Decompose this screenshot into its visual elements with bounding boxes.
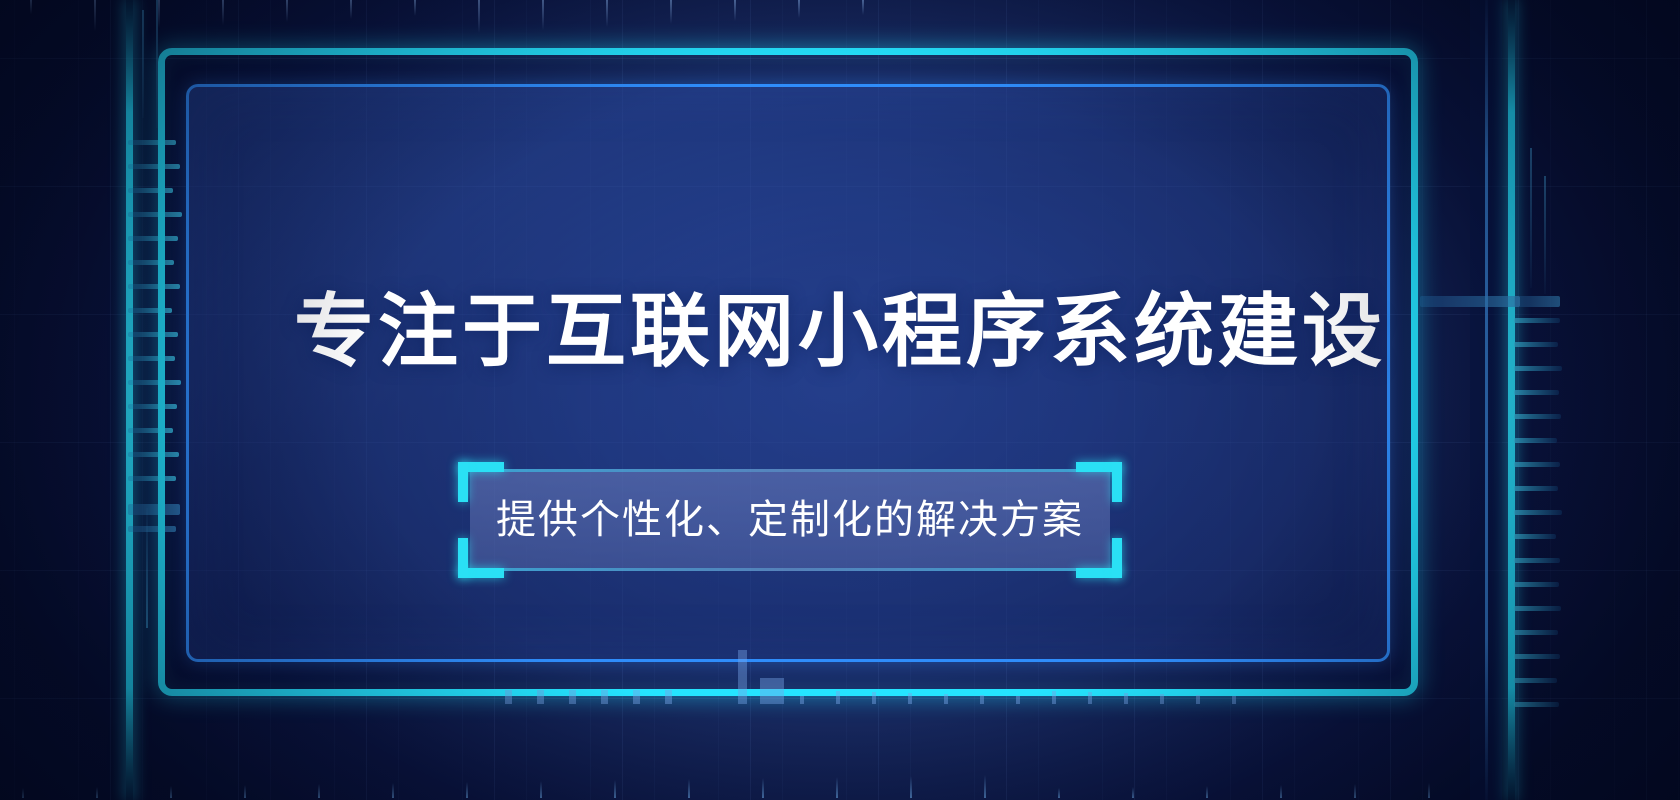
tick-mark — [540, 781, 542, 798]
dash-mark — [908, 693, 912, 704]
tick-mark — [94, 0, 96, 31]
bottom-bar-tall — [738, 650, 747, 704]
bottom-tick-marks — [0, 774, 1680, 798]
tick-mark — [910, 776, 912, 798]
right-whisker-b — [1544, 176, 1546, 294]
dash-mark — [537, 690, 544, 704]
tick-mark — [614, 780, 616, 798]
tick-mark — [96, 787, 98, 798]
tick-mark — [30, 0, 32, 14]
equalizer-bar — [1514, 462, 1560, 467]
equalizer-bar — [1514, 486, 1558, 491]
dash-mark — [1196, 695, 1200, 704]
tick-mark — [478, 0, 480, 33]
dash-mark — [944, 694, 948, 704]
equalizer-bar — [1514, 582, 1559, 587]
tick-mark — [1058, 788, 1060, 798]
dash-mark — [665, 690, 672, 704]
dash-mark — [1232, 696, 1236, 704]
banner-stage: 专注于互联网小程序系统建设 提供个性化、定制化的解决方案 — [0, 0, 1680, 800]
dash-mark — [872, 692, 876, 704]
tick-mark — [466, 782, 468, 798]
bottom-dash-row-2 — [800, 692, 1260, 704]
right-whisker-a — [1530, 148, 1532, 288]
equalizer-bar — [1514, 510, 1562, 515]
tick-mark — [688, 779, 690, 798]
dash-mark — [800, 696, 804, 704]
tick-mark — [542, 0, 544, 30]
equalizer-bar — [1514, 414, 1561, 419]
tick-mark — [414, 0, 416, 16]
tick-mark — [762, 778, 764, 798]
tick-mark — [798, 0, 800, 18]
tick-mark — [836, 777, 838, 798]
tick-mark — [1428, 783, 1430, 798]
tick-mark — [862, 0, 864, 15]
tick-mark — [1354, 784, 1356, 798]
tick-mark — [286, 0, 288, 22]
tick-mark — [244, 785, 246, 798]
subtitle-rule-top — [470, 469, 1110, 472]
top-tick-marks — [0, 0, 1680, 34]
equalizer-bar — [1514, 702, 1559, 707]
tick-mark — [318, 784, 320, 798]
tick-mark — [222, 0, 224, 25]
bottom-dash-row — [505, 688, 705, 704]
tick-mark — [734, 0, 736, 21]
tick-mark — [1132, 787, 1134, 798]
tick-mark — [170, 786, 172, 798]
dash-mark — [505, 690, 512, 704]
left-whisker-c — [146, 508, 148, 628]
dash-mark — [980, 695, 984, 704]
corner-bracket-bottom-right-icon — [1076, 538, 1122, 578]
tick-mark — [22, 788, 24, 798]
dash-mark — [836, 691, 840, 704]
tick-mark — [392, 783, 394, 798]
dash-mark — [1124, 693, 1128, 704]
dash-mark — [1088, 692, 1092, 704]
equalizer-bar — [1514, 606, 1561, 611]
dash-mark — [1016, 696, 1020, 704]
tick-mark — [1206, 786, 1208, 798]
dash-mark — [1160, 694, 1164, 704]
equalizer-bar — [1514, 558, 1560, 563]
page-subtitle: 提供个性化、定制化的解决方案 — [496, 496, 1084, 544]
dash-mark — [633, 690, 640, 704]
dash-mark — [1052, 691, 1056, 704]
corner-bracket-bottom-left-icon — [458, 538, 504, 578]
equalizer-bar — [1514, 678, 1557, 683]
right-soft-line — [1485, 0, 1488, 800]
tick-mark — [670, 0, 672, 24]
left-whisker-a — [142, 10, 144, 118]
equalizer-bar — [1514, 390, 1559, 395]
equalizer-bar — [1514, 534, 1556, 539]
subtitle-box: 提供个性化、定制化的解决方案 — [470, 472, 1110, 568]
bottom-bar-short — [760, 678, 784, 704]
tick-mark — [606, 0, 608, 27]
tick-mark — [350, 0, 352, 19]
subtitle-rule-bottom — [470, 568, 1110, 571]
equalizer-bar — [1514, 630, 1558, 635]
dash-mark — [569, 690, 576, 704]
tick-mark — [1280, 785, 1282, 798]
tick-mark — [158, 0, 160, 28]
tick-mark — [984, 775, 986, 798]
equalizer-bar — [1514, 654, 1560, 659]
equalizer-bar — [1514, 438, 1557, 443]
page-title: 专注于互联网小程序系统建设 — [0, 284, 1680, 380]
dash-mark — [601, 690, 608, 704]
